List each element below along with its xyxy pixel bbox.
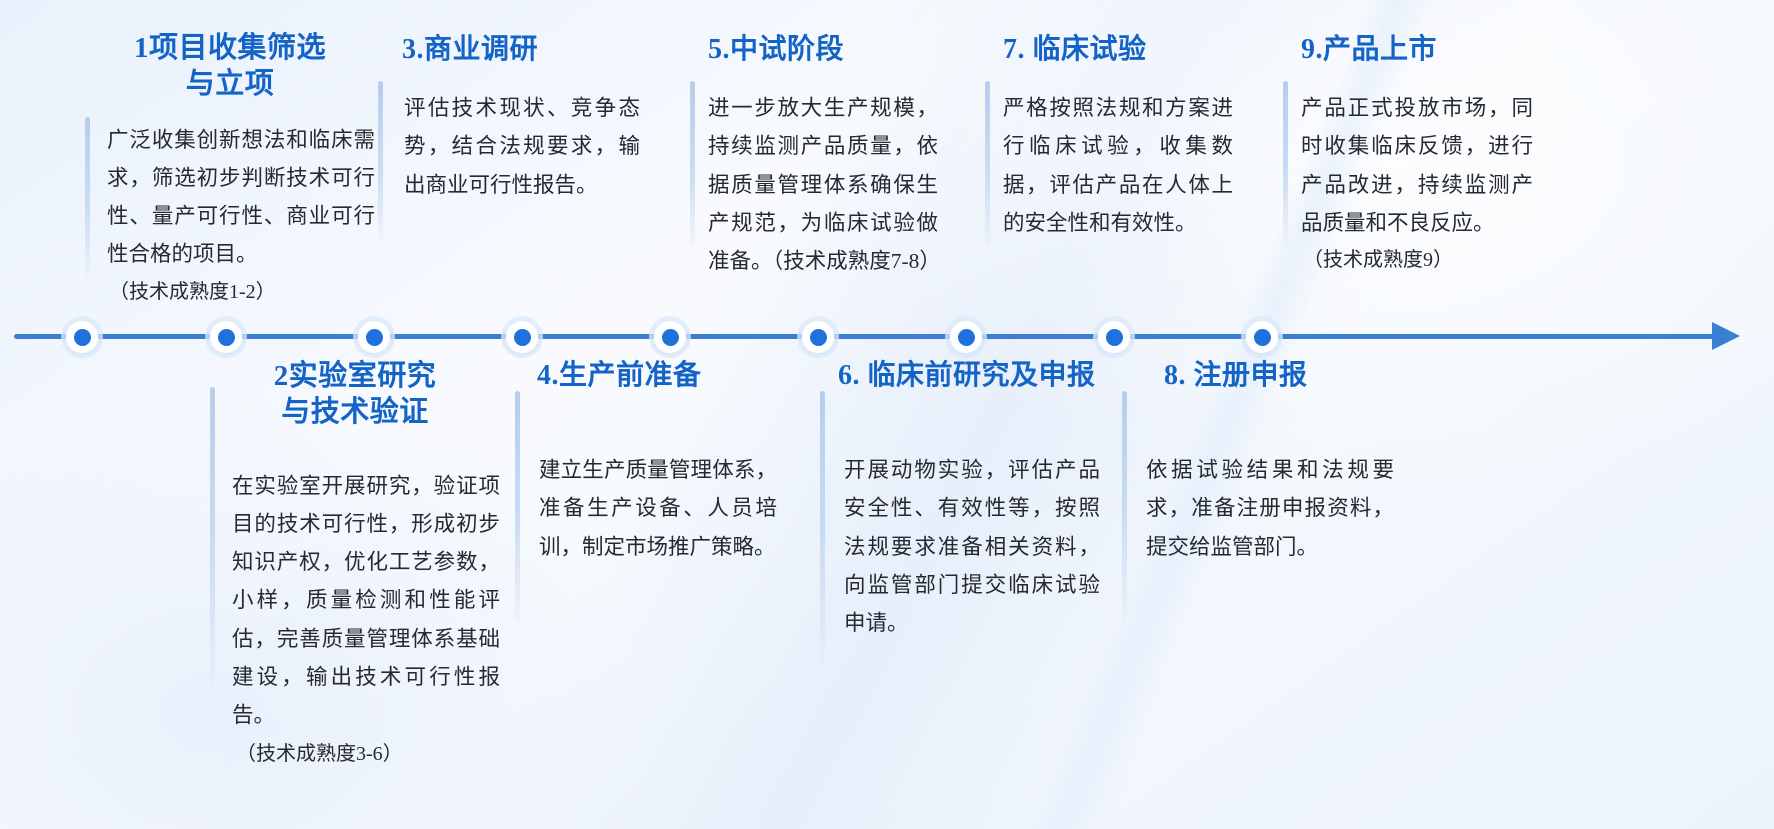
stage-3-title: 3.商业调研 bbox=[390, 32, 640, 67]
stage-3-body: 评估技术现状、竞争态势，结合法规要求，输出商业可行性报告。 bbox=[390, 89, 640, 204]
stage-1-title-line-2: 与立项 bbox=[85, 66, 375, 102]
stage-9[interactable]: 9.产品上市 产品正式投放市场，同时收集临床反馈，进行产品改进，持续监测产品质量… bbox=[1283, 32, 1533, 276]
stage-1-body: 广泛收集创新想法和临床需求，筛选初步判断技术可行性、量产可行性、商业可行性合格的… bbox=[85, 121, 375, 274]
node-dot-icon bbox=[74, 329, 91, 346]
stage-9-title: 9.产品上市 bbox=[1283, 32, 1533, 67]
node-dot-icon bbox=[1106, 329, 1123, 346]
stage-2-accent-bar bbox=[210, 387, 215, 687]
stage-9-body-text: 产品正式投放市场，同时收集临床反馈，进行产品改进，持续监测产品质量和不良反应。 bbox=[1301, 96, 1533, 235]
stage-5-title: 5.中试阶段 bbox=[690, 32, 938, 67]
stage-1-title-line-1: 1项目收集筛选 bbox=[85, 30, 375, 66]
stage-7-accent-bar bbox=[985, 81, 990, 246]
timeline-node-1[interactable] bbox=[66, 321, 98, 353]
stage-4-title: 4.生产前准备 bbox=[525, 358, 777, 393]
stage-1-body-text: 广泛收集创新想法和临床需求，筛选初步判断技术可行性、量产可行性、商业可行性合格的… bbox=[107, 128, 375, 267]
stage-1-accent-bar bbox=[85, 117, 90, 277]
stage-6-accent-bar bbox=[820, 391, 825, 666]
stage-5[interactable]: 5.中试阶段 进一步放大生产规模，持续监测产品质量，依据质量管理体系确保生产规范… bbox=[690, 32, 938, 280]
stage-4-accent-bar bbox=[515, 391, 520, 621]
stage-7-body-text: 严格按照法规和方案进行临床试验，收集数据，评估产品在人体上的安全性和有效性。 bbox=[1003, 96, 1233, 235]
stage-2-title: 2实验室研究 与技术验证 bbox=[210, 358, 500, 431]
timeline-node-2[interactable] bbox=[210, 321, 242, 353]
timeline-line bbox=[14, 334, 1724, 339]
stage-2-note: （技术成熟度3-6） bbox=[210, 738, 500, 770]
stage-4-body-text: 建立生产质量管理体系，准备生产设备、人员培训，制定市场推广策略。 bbox=[539, 458, 777, 559]
stage-9-accent-bar bbox=[1283, 81, 1288, 246]
timeline-node-8[interactable] bbox=[1098, 321, 1130, 353]
timeline-node-7[interactable] bbox=[950, 321, 982, 353]
stage-9-note: （技术成熟度9） bbox=[1283, 244, 1533, 276]
stage-5-body-text: 进一步放大生产规模，持续监测产品质量，依据质量管理体系确保生产规范，为临床试验做… bbox=[708, 96, 941, 273]
timeline-arrow-icon bbox=[1712, 322, 1740, 350]
node-dot-icon bbox=[662, 329, 679, 346]
stage-1[interactable]: 1项目收集筛选 与立项 广泛收集创新想法和临床需求，筛选初步判断技术可行性、量产… bbox=[85, 30, 375, 308]
stage-6[interactable]: 6. 临床前研究及申报 开展动物实验，评估产品安全性、有效性等，按照法规要求准备… bbox=[820, 358, 1100, 642]
stage-8-accent-bar bbox=[1122, 391, 1127, 621]
stage-3-body-text: 评估技术现状、竞争态势，结合法规要求，输出商业可行性报告。 bbox=[404, 96, 640, 197]
stage-7[interactable]: 7. 临床试验 严格按照法规和方案进行临床试验，收集数据，评估产品在人体上的安全… bbox=[985, 32, 1233, 242]
timeline-node-4[interactable] bbox=[506, 321, 538, 353]
stage-8-body-text: 依据试验结果和法规要求，准备注册申报资料，提交给监管部门。 bbox=[1146, 458, 1394, 559]
stage-5-body: 进一步放大生产规模，持续监测产品质量，依据质量管理体系确保生产规范，为临床试验做… bbox=[690, 89, 938, 280]
stage-6-body-text: 开展动物实验，评估产品安全性、有效性等，按照法规要求准备相关资料，向监管部门提交… bbox=[844, 458, 1100, 635]
stage-4-body: 建立生产质量管理体系，准备生产设备、人员培训，制定市场推广策略。 bbox=[525, 451, 777, 566]
node-dot-icon bbox=[366, 329, 383, 346]
stage-8[interactable]: 8. 注册申报 依据试验结果和法规要求，准备注册申报资料，提交给监管部门。 bbox=[1122, 358, 1394, 566]
timeline-node-5[interactable] bbox=[654, 321, 686, 353]
timeline-node-9[interactable] bbox=[1246, 321, 1278, 353]
timeline-node-3[interactable] bbox=[358, 321, 390, 353]
node-dot-icon bbox=[1254, 329, 1271, 346]
stage-6-title: 6. 临床前研究及申报 bbox=[820, 358, 1100, 393]
timeline-axis bbox=[14, 330, 1760, 344]
stage-4[interactable]: 4.生产前准备 建立生产质量管理体系，准备生产设备、人员培训，制定市场推广策略。 bbox=[525, 358, 777, 566]
node-dot-icon bbox=[958, 329, 975, 346]
stage-1-title: 1项目收集筛选 与立项 bbox=[85, 30, 375, 103]
stage-2-title-line-2: 与技术验证 bbox=[210, 394, 500, 430]
stage-5-accent-bar bbox=[690, 81, 695, 246]
stage-2[interactable]: 2实验室研究 与技术验证 在实验室开展研究，验证项目的技术可行性，形成初步知识产… bbox=[210, 358, 500, 770]
node-dot-icon bbox=[218, 329, 235, 346]
timeline-node-6[interactable] bbox=[802, 321, 834, 353]
stage-3-accent-bar bbox=[378, 81, 383, 241]
stage-2-body-text: 在实验室开展研究，验证项目的技术可行性，形成初步知识产权，优化工艺参数，小样，质… bbox=[232, 474, 500, 728]
stage-2-title-line-1: 2实验室研究 bbox=[210, 358, 500, 394]
stage-7-title: 7. 临床试验 bbox=[985, 32, 1233, 67]
stage-2-body: 在实验室开展研究，验证项目的技术可行性，形成初步知识产权，优化工艺参数，小样，质… bbox=[210, 467, 500, 735]
stage-7-body: 严格按照法规和方案进行临床试验，收集数据，评估产品在人体上的安全性和有效性。 bbox=[985, 89, 1233, 242]
node-dot-icon bbox=[514, 329, 531, 346]
node-dot-icon bbox=[810, 329, 827, 346]
stage-9-body: 产品正式投放市场，同时收集临床反馈，进行产品改进，持续监测产品质量和不良反应。 bbox=[1283, 89, 1533, 242]
stage-8-body: 依据试验结果和法规要求，准备注册申报资料，提交给监管部门。 bbox=[1122, 451, 1394, 566]
stage-6-body: 开展动物实验，评估产品安全性、有效性等，按照法规要求准备相关资料，向监管部门提交… bbox=[820, 451, 1100, 642]
stage-1-note: （技术成熟度1-2） bbox=[85, 276, 375, 308]
stage-3[interactable]: 3.商业调研 评估技术现状、竞争态势，结合法规要求，输出商业可行性报告。 bbox=[390, 32, 640, 204]
stage-8-title: 8. 注册申报 bbox=[1122, 358, 1394, 393]
